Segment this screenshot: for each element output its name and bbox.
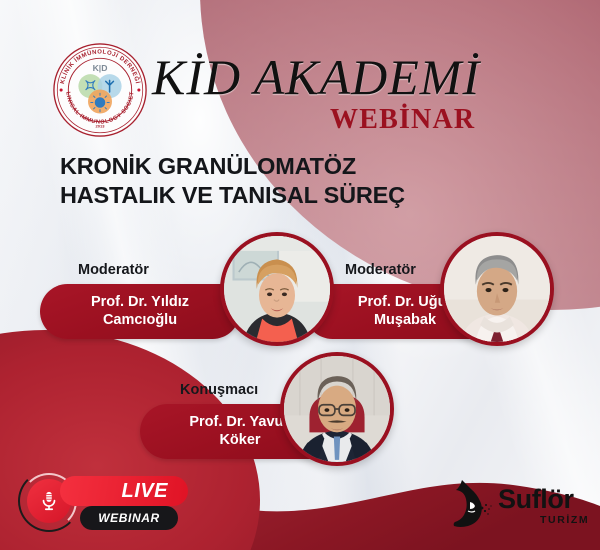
live-webinar-badge[interactable]: LIVE WEBINAR <box>18 468 198 536</box>
person-name-line2: Camcıoğlu <box>54 311 226 329</box>
person-role-label: Moderatör <box>78 262 149 278</box>
page-title-line2: HASTALIK VE TANISAL SÜREÇ <box>60 181 480 210</box>
sponsor-name: Suflör <box>498 484 574 515</box>
person-card-moderator-2: Moderatör Prof. Dr. Uğur Muşabak <box>300 232 580 352</box>
svg-text:K|D: K|D <box>93 63 108 73</box>
webinar-label: WEBINAR <box>98 511 160 525</box>
page-title-line1: KRONİK GRANÜLOMATÖZ <box>60 153 356 179</box>
kid-society-emblem: KLİNİK İMMÜNOLOJİ DERNEĞİ CLINICAL IMMUN… <box>52 42 148 138</box>
person-name-pill: Prof. Dr. Yıldız Camcıoğlu <box>40 284 240 339</box>
person-card-moderator-1: Moderatör Prof. Dr. Yıldız Camcıoğlu <box>40 232 310 352</box>
photo-yildiz-camcioglu <box>220 232 334 346</box>
person-name-line1: Prof. Dr. Yıldız <box>54 293 226 311</box>
person-role-label: Moderatör <box>345 262 416 278</box>
svg-text:2013: 2013 <box>96 123 106 128</box>
webinar-label-pill: WEBINAR <box>80 506 178 530</box>
kid-akademi-wordmark: KİD AKADEMİ <box>152 48 480 106</box>
live-label-pill: LIVE <box>60 476 188 506</box>
webinar-wordmark: WEBİNAR <box>330 104 475 136</box>
photo-yavuz-koker <box>280 352 394 466</box>
page-title: KRONİK GRANÜLOMATÖZ HASTALIK VE TANISAL … <box>60 152 480 209</box>
sponsor-subtitle: TURİZM <box>540 514 589 526</box>
face-profile-icon <box>448 478 492 528</box>
live-label: LIVE <box>122 480 168 503</box>
webinar-poster: KLİNİK İMMÜNOLOJİ DERNEĞİ CLINICAL IMMUN… <box>0 0 600 550</box>
person-role-label: Konuşmacı <box>180 382 258 398</box>
person-card-speaker: Konuşmacı Prof. Dr. Yavuz Köker <box>140 352 400 472</box>
sponsor-logo-suflor[interactable]: Suflör TURİZM <box>448 478 588 534</box>
photo-ugur-musabak <box>440 232 554 346</box>
